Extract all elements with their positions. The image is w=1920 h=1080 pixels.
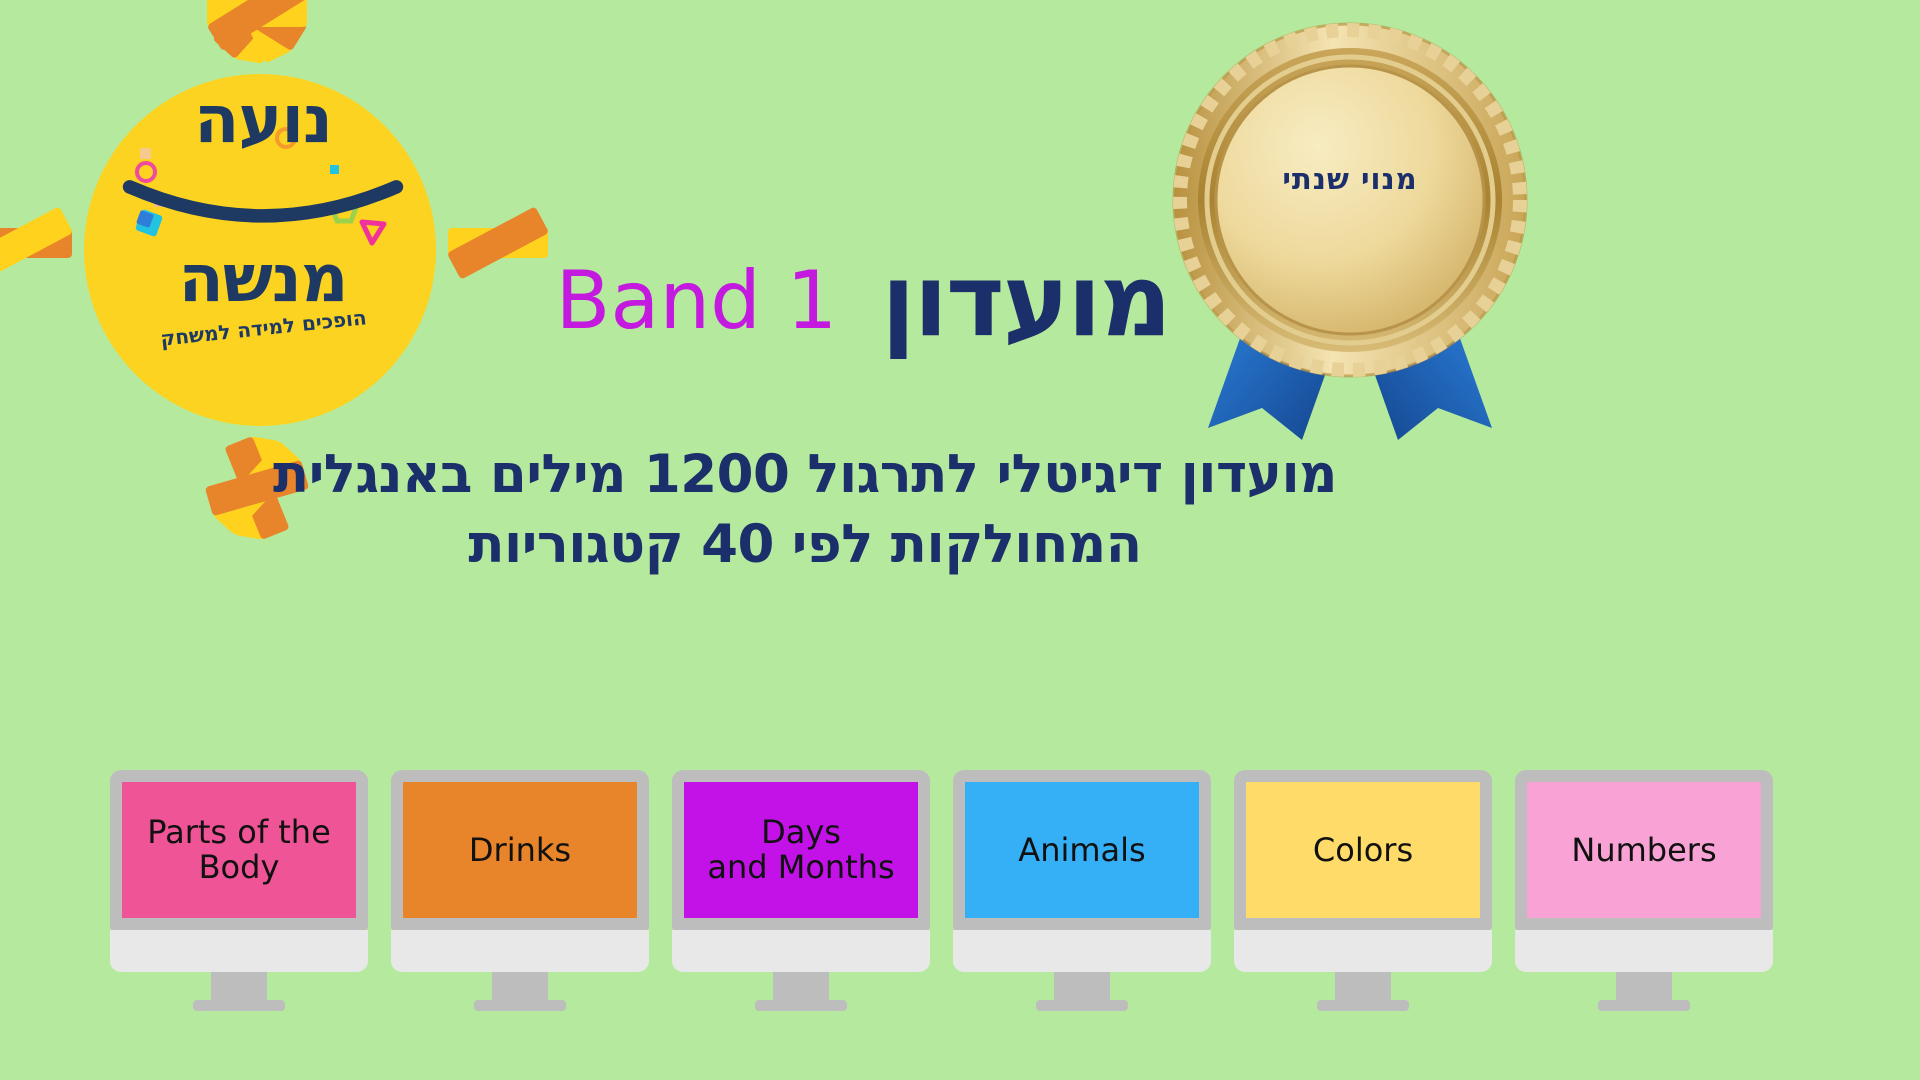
subtitle-line-2: המחולקות לפי 40 קטגוריות	[160, 510, 1450, 580]
monitor-screen[interactable]: Colors	[1246, 782, 1480, 918]
category-label-line: Days	[707, 815, 894, 850]
category-label: Parts of theBody	[147, 815, 331, 884]
category-monitor[interactable]: Numbers	[1515, 770, 1773, 1011]
headline: Band 1 מועדון	[430, 236, 1170, 366]
monitor-screen[interactable]: Drinks	[403, 782, 637, 918]
category-label-line: Numbers	[1571, 833, 1716, 868]
subtitle-line-1: מועדון דיגיטלי לתרגול 1200 מילים באנגלית	[160, 440, 1450, 510]
category-label: Animals	[1018, 833, 1145, 868]
monitor-foot	[1598, 1000, 1690, 1011]
monitor-base	[953, 930, 1211, 972]
monitor-neck	[211, 972, 267, 1000]
category-monitor[interactable]: Colors	[1234, 770, 1492, 1011]
monitor-base	[672, 930, 930, 972]
page-title: מועדון	[881, 251, 1170, 351]
monitor-neck	[1054, 972, 1110, 1000]
category-monitor[interactable]: Drinks	[391, 770, 649, 1011]
monitor-neck	[1616, 972, 1672, 1000]
monitor-foot	[1036, 1000, 1128, 1011]
category-label-line: Drinks	[469, 833, 571, 868]
category-monitor-row: Parts of theBodyDrinksDaysand MonthsAnim…	[110, 770, 1810, 1000]
monitor-neck	[1335, 972, 1391, 1000]
badge-label: מנוי שנתי	[1150, 162, 1550, 196]
category-label: Daysand Months	[707, 815, 894, 884]
monitor-neck	[773, 972, 829, 1000]
monitor-bezel: Colors	[1234, 770, 1492, 930]
monitor-bezel: Numbers	[1515, 770, 1773, 930]
category-label-line: Body	[147, 850, 331, 885]
monitor-foot	[474, 1000, 566, 1011]
category-label: Numbers	[1571, 833, 1716, 868]
monitor-bezel: Animals	[953, 770, 1211, 930]
logo-wordmark: נועה מנשה הופכים למידה למשחק	[118, 90, 408, 340]
monitor-neck	[492, 972, 548, 1000]
category-monitor[interactable]: Animals	[953, 770, 1211, 1011]
monitor-screen[interactable]: Numbers	[1527, 782, 1761, 918]
rosette-icon	[1150, 10, 1550, 450]
monitor-bezel: Drinks	[391, 770, 649, 930]
category-label: Drinks	[469, 833, 571, 868]
band-label: Band 1	[556, 261, 838, 341]
monitor-base	[110, 930, 368, 972]
category-label-line: Parts of the	[147, 815, 331, 850]
monitor-foot	[755, 1000, 847, 1011]
category-label-line: and Months	[707, 850, 894, 885]
category-monitor[interactable]: Daysand Months	[672, 770, 930, 1011]
monitor-screen[interactable]: Animals	[965, 782, 1199, 918]
category-label: Colors	[1313, 833, 1413, 868]
category-label-line: Colors	[1313, 833, 1413, 868]
category-monitor[interactable]: Parts of theBody	[110, 770, 368, 1011]
monitor-bezel: Daysand Months	[672, 770, 930, 930]
logo-line-2: מנשה	[178, 249, 347, 310]
annual-subscription-badge: מנוי שנתי	[1150, 10, 1550, 450]
monitor-base	[1234, 930, 1492, 972]
monitor-screen[interactable]: Daysand Months	[684, 782, 918, 918]
monitor-bezel: Parts of theBody	[110, 770, 368, 930]
monitor-screen[interactable]: Parts of theBody	[122, 782, 356, 918]
monitor-foot	[193, 1000, 285, 1011]
monitor-base	[391, 930, 649, 972]
monitor-foot	[1317, 1000, 1409, 1011]
subtitle: מועדון דיגיטלי לתרגול 1200 מילים באנגלית…	[160, 440, 1450, 581]
monitor-base	[1515, 930, 1773, 972]
logo-line-1: נועה	[194, 90, 332, 151]
poster-canvas: נועה מנשה הופכים למידה למשחק Band 1 מועד…	[0, 0, 1920, 1080]
category-label-line: Animals	[1018, 833, 1145, 868]
